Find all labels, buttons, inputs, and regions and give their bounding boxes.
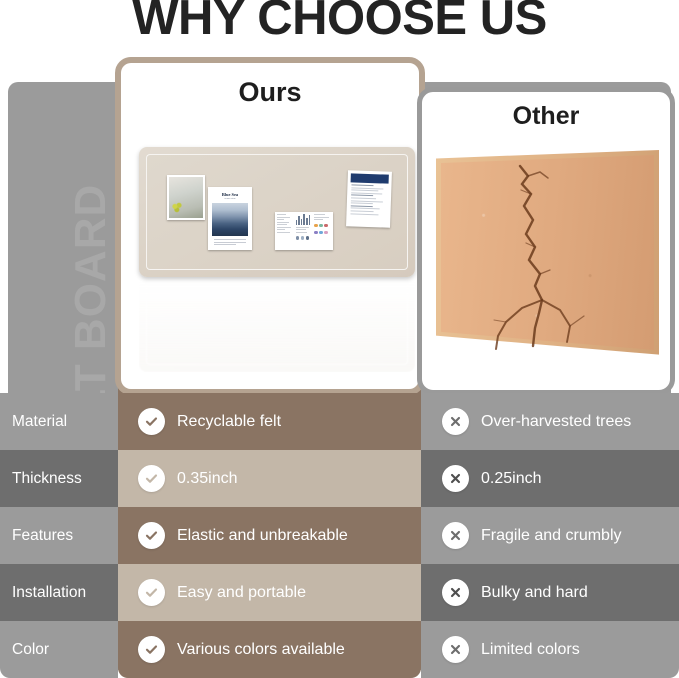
row-label: Installation <box>0 564 118 621</box>
row-ours-text: 0.35inch <box>177 470 238 488</box>
card-ours[interactable]: Ours Blue Sea ocean view <box>115 57 425 395</box>
cross-icon <box>442 579 469 606</box>
felt-board-inner: Blue Sea ocean view <box>146 154 408 270</box>
poster-text-lines <box>214 239 246 245</box>
pinned-chart-sheet <box>275 212 333 250</box>
row-ours-cell: Easy and portable <box>118 564 421 621</box>
row-other-text: Bulky and hard <box>481 584 588 602</box>
row-other-cell: Limited colors <box>421 621 679 678</box>
cross-icon <box>442 408 469 435</box>
check-icon <box>138 579 165 606</box>
cross-icon <box>442 636 469 663</box>
cork-board-surface <box>441 155 654 356</box>
check-icon <box>138 408 165 435</box>
row-ours-text: Elastic and unbreakable <box>177 527 348 545</box>
ours-product-image: Blue Sea ocean view <box>139 147 415 377</box>
row-ours-text: Recyclable felt <box>177 413 281 431</box>
table-row: Installation Easy and portable Bulky and… <box>0 564 679 621</box>
poster-image <box>212 203 248 236</box>
row-ours-cell: Various colors available <box>118 621 421 678</box>
row-other-text: Fragile and crumbly <box>481 527 622 545</box>
page-title: WHY CHOOSE US <box>0 0 679 46</box>
row-label: Features <box>0 507 118 564</box>
cross-icon <box>442 465 469 492</box>
check-icon <box>138 636 165 663</box>
table-row: Material Recyclable felt Over-harvested … <box>0 393 679 450</box>
row-ours-cell: Elastic and unbreakable <box>118 507 421 564</box>
pinned-poster-blue-sea: Blue Sea ocean view <box>208 187 252 250</box>
table-row: Features Elastic and unbreakable Fragile… <box>0 507 679 564</box>
check-icon <box>138 465 165 492</box>
row-other-text: Over-harvested trees <box>481 413 631 431</box>
row-other-text: 0.25inch <box>481 470 542 488</box>
felt-board-reflection <box>139 280 415 372</box>
row-label: Color <box>0 621 118 678</box>
pinned-document <box>346 170 392 228</box>
row-ours-text: Various colors available <box>177 641 345 659</box>
card-ours-heading: Ours <box>121 77 419 108</box>
row-label: Material <box>0 393 118 450</box>
row-ours-cell: 0.35inch <box>118 450 421 507</box>
row-ours-text: Easy and portable <box>177 584 306 602</box>
row-other-cell: Over-harvested trees <box>421 393 679 450</box>
row-ours-cell: Recyclable felt <box>118 393 421 450</box>
check-icon <box>138 522 165 549</box>
infographic-root: WHY CHOOSE US FELT BOARD Ours Blue Sea o… <box>0 0 679 678</box>
cross-icon <box>442 522 469 549</box>
row-other-cell: Bulky and hard <box>421 564 679 621</box>
card-other-heading: Other <box>422 102 670 131</box>
row-other-cell: 0.25inch <box>421 450 679 507</box>
card-other[interactable]: Other <box>417 87 675 395</box>
poster-subtitle: ocean view <box>210 198 250 200</box>
other-product-image <box>436 150 664 370</box>
row-label: Thickness <box>0 450 118 507</box>
felt-board: Blue Sea ocean view <box>139 147 415 277</box>
pinned-photo <box>167 175 205 220</box>
row-other-cell: Fragile and crumbly <box>421 507 679 564</box>
table-row: Color Various colors available Limited c… <box>0 621 679 678</box>
row-other-text: Limited colors <box>481 641 580 659</box>
table-row: Thickness 0.35inch 0.25inch <box>0 450 679 507</box>
poster-title: Blue Sea <box>210 192 250 197</box>
comparison-table: Material Recyclable felt Over-harvested … <box>0 393 679 678</box>
